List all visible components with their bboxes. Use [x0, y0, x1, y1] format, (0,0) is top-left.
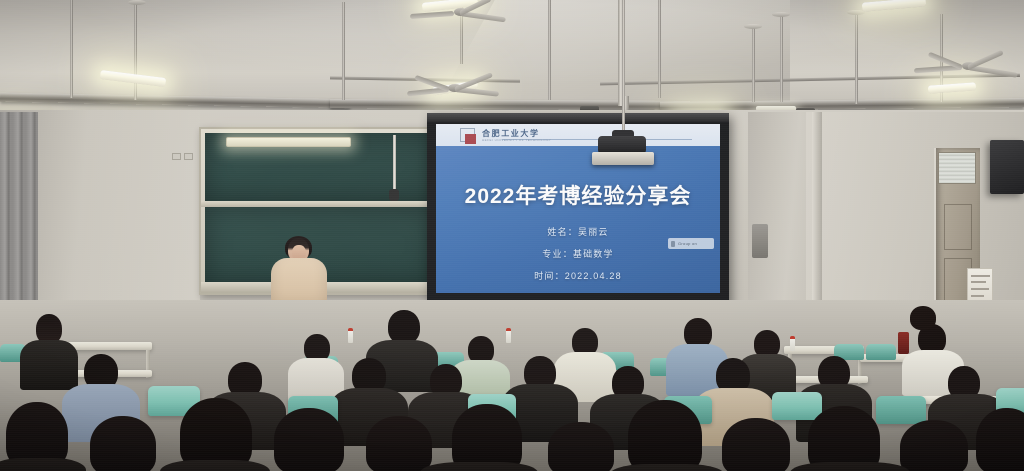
audience-head-foreground [90, 416, 156, 471]
wall-mounted-monitor [990, 140, 1024, 194]
university-logo-subtitle: HEFEI UNIVERSITY OF TECHNOLOGY [482, 138, 551, 142]
ceiling-hanger-pipe [134, 0, 137, 100]
ceiling-hanger-pipe [752, 26, 755, 102]
wall-mounted-box[interactable] [752, 224, 768, 258]
ceiling-hanger-pipe [548, 0, 551, 100]
lecture-seat[interactable] [772, 392, 822, 420]
presentation-toolbar[interactable]: Group on [668, 238, 714, 249]
wall-sign [967, 268, 993, 304]
ceiling-hanger-pipe [855, 12, 858, 104]
audience-head-foreground [452, 404, 522, 471]
seat-back[interactable] [866, 344, 896, 360]
hanging-microphone-cable [393, 135, 396, 191]
sign-text-line [971, 295, 984, 297]
blackboard-lamp [226, 137, 351, 147]
university-logo-icon [460, 128, 475, 142]
sign-text-line [971, 288, 989, 290]
lecture-hall-photo: 合肥工业大学 HEFEI UNIVERSITY OF TECHNOLOGY 20… [0, 0, 1024, 471]
fan-mount-cap [744, 24, 762, 29]
projector-mount-rod [622, 0, 625, 140]
fan-mount-cap [128, 0, 146, 5]
audience-torso-foreground [0, 458, 86, 471]
water-bottle[interactable] [348, 328, 353, 343]
hanging-microphone [389, 189, 399, 201]
audience-head-foreground [976, 408, 1024, 471]
slide-line-date: 时间：2022.04.28 [436, 269, 720, 282]
audience-torso-foreground [610, 464, 724, 471]
slide-line-name: 姓名：吴丽云 [436, 225, 720, 238]
audience-area [0, 300, 1024, 471]
audience-head-foreground [548, 422, 614, 471]
water-bottle[interactable] [790, 336, 795, 351]
ceiling-hanger-pipe [658, 0, 661, 98]
projection-screen-roller [427, 113, 729, 122]
presentation-slide: 合肥工业大学 HEFEI UNIVERSITY OF TECHNOLOGY 20… [436, 124, 720, 293]
toolbar-label: Group on [678, 241, 697, 246]
audience-head-foreground [274, 408, 344, 471]
wall-outlet[interactable] [184, 153, 193, 160]
fan-mount-cap [772, 12, 790, 17]
ceiling-hanger-pipe [70, 0, 73, 98]
ceiling-projector [592, 152, 654, 165]
audience-head-foreground [628, 400, 702, 471]
slide-title: 2022年考博经验分享会 [436, 180, 720, 210]
audience-torso-foreground [420, 462, 538, 471]
slide-header-band [436, 124, 720, 146]
student-desk [68, 342, 152, 350]
audience-head-foreground [366, 416, 432, 471]
toolbar-icon[interactable] [671, 241, 675, 247]
ceiling-conduit-rail-center [330, 99, 690, 110]
wall-outlet[interactable] [172, 153, 181, 160]
audience-torso-foreground [160, 460, 270, 471]
lecture-seat[interactable] [876, 396, 926, 424]
audience-head [910, 306, 936, 330]
audience-head-foreground [900, 420, 968, 471]
audience-head-foreground [722, 418, 790, 471]
ceiling-hanger-pipe [780, 14, 783, 102]
ceiling-hanger-pipe [342, 2, 345, 100]
audience-torso-foreground [790, 462, 910, 471]
door-panel-detail [944, 204, 972, 250]
water-bottle[interactable] [506, 328, 511, 343]
door-window [938, 152, 976, 184]
thermos-bottle[interactable] [898, 332, 909, 354]
sign-text-line [971, 275, 990, 277]
audience-head [388, 310, 420, 344]
audience-torso [20, 340, 78, 390]
sign-text-line [971, 281, 986, 283]
